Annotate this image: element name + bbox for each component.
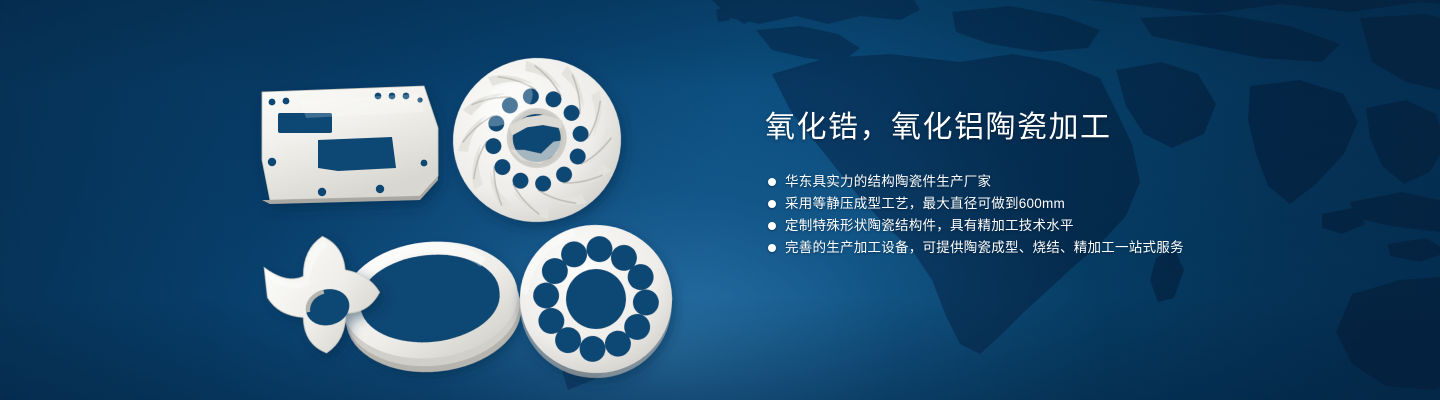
bullet-dot-icon: [768, 200, 776, 208]
list-item: 采用等静压成型工艺，最大直径可做到600mm: [765, 193, 1385, 215]
banner-copy: 氧化锆，氧化铝陶瓷加工 华东具实力的结构陶瓷件生产厂家 采用等静压成型工艺，最大…: [765, 108, 1385, 259]
list-item: 华东具实力的结构陶瓷件生产厂家: [765, 171, 1385, 193]
bullet-dot-icon: [768, 178, 776, 186]
list-item: 定制特殊形状陶瓷结构件，具有精加工技术水平: [765, 215, 1385, 237]
page-title: 氧化锆，氧化铝陶瓷加工: [765, 108, 1385, 148]
list-item-label: 完善的生产加工设备，可提供陶瓷成型、烧结、精加工一站式服务: [785, 240, 1184, 255]
bullet-dot-icon: [768, 244, 776, 252]
list-item: 完善的生产加工设备，可提供陶瓷成型、烧结、精加工一站式服务: [765, 237, 1385, 259]
feature-list: 华东具实力的结构陶瓷件生产厂家 采用等静压成型工艺，最大直径可做到600mm 定…: [765, 171, 1385, 259]
bullet-dot-icon: [768, 222, 776, 230]
list-item-label: 华东具实力的结构陶瓷件生产厂家: [785, 174, 991, 189]
hero-banner: 氧化锆，氧化铝陶瓷加工 华东具实力的结构陶瓷件生产厂家 采用等静压成型工艺，最大…: [0, 0, 1440, 400]
list-item-label: 采用等静压成型工艺，最大直径可做到600mm: [785, 196, 1065, 211]
list-item-label: 定制特殊形状陶瓷结构件，具有精加工技术水平: [785, 218, 1074, 233]
